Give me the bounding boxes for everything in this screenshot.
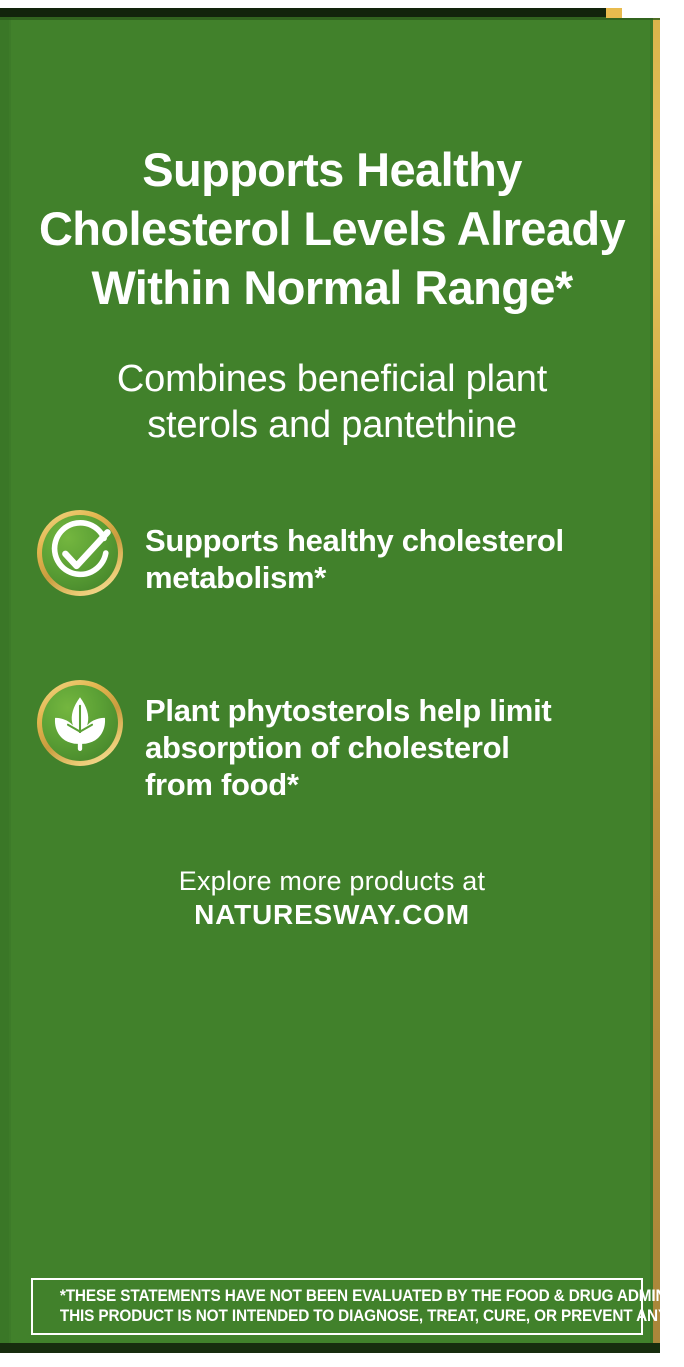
subtitle-line-1: Combines beneficial plant (25, 356, 639, 402)
green-panel-face: Supports Healthy Cholesterol Levels Alre… (0, 8, 660, 1353)
carton-top-right-background-sliver (620, 8, 660, 18)
disclaimer-line-1: *THESE STATEMENTS HAVE NOT BEEN EVALUATE… (60, 1286, 614, 1306)
product-carton-panel: Supports Healthy Cholesterol Levels Alre… (0, 0, 684, 1367)
benefit-item-1: Supports healthy cholesterol metabolism* (37, 510, 637, 596)
panel-content: Supports Healthy Cholesterol Levels Alre… (11, 20, 653, 1343)
check-circle-icon (37, 510, 123, 596)
subtitle-line-2: sterols and pantethine (25, 402, 639, 448)
benefit-2-line-3: from food* (145, 766, 551, 803)
carton-right-gold-edge (653, 8, 660, 1353)
carton-left-fold-edge (0, 8, 9, 1353)
benefit-text-1: Supports healthy cholesterol metabolism* (145, 510, 564, 596)
benefit-1-line-2: metabolism* (145, 559, 564, 596)
carton-bottom-shadow (0, 1343, 660, 1353)
explore-prompt: Explore more products at (25, 865, 639, 898)
headline-line-1: Supports Healthy (25, 140, 639, 199)
benefit-text-2: Plant phytosterols help limit absorption… (145, 680, 551, 803)
disclaimer-line-2: THIS PRODUCT IS NOT INTENDED TO DIAGNOSE… (60, 1306, 614, 1326)
subtitle: Combines beneficial plant sterols and pa… (25, 356, 639, 448)
headline-line-3: Within Normal Range* (25, 258, 639, 317)
headline-line-2: Cholesterol Levels Already (25, 199, 639, 258)
benefit-2-line-2: absorption of cholesterol (145, 729, 551, 766)
benefit-2-line-1: Plant phytosterols help limit (145, 692, 551, 729)
explore-more-block: Explore more products at NATURESWAY.COM (25, 865, 639, 932)
benefit-1-line-1: Supports healthy cholesterol (145, 522, 564, 559)
carton-top-shadow (0, 8, 660, 17)
plant-leaf-icon (37, 680, 123, 766)
carton-top-right-gold-sliver (606, 8, 622, 18)
website-url: NATURESWAY.COM (25, 898, 639, 932)
fda-disclaimer-box: *THESE STATEMENTS HAVE NOT BEEN EVALUATE… (31, 1278, 643, 1335)
benefit-item-2: Plant phytosterols help limit absorption… (37, 680, 637, 803)
page-title: Supports Healthy Cholesterol Levels Alre… (25, 140, 639, 317)
